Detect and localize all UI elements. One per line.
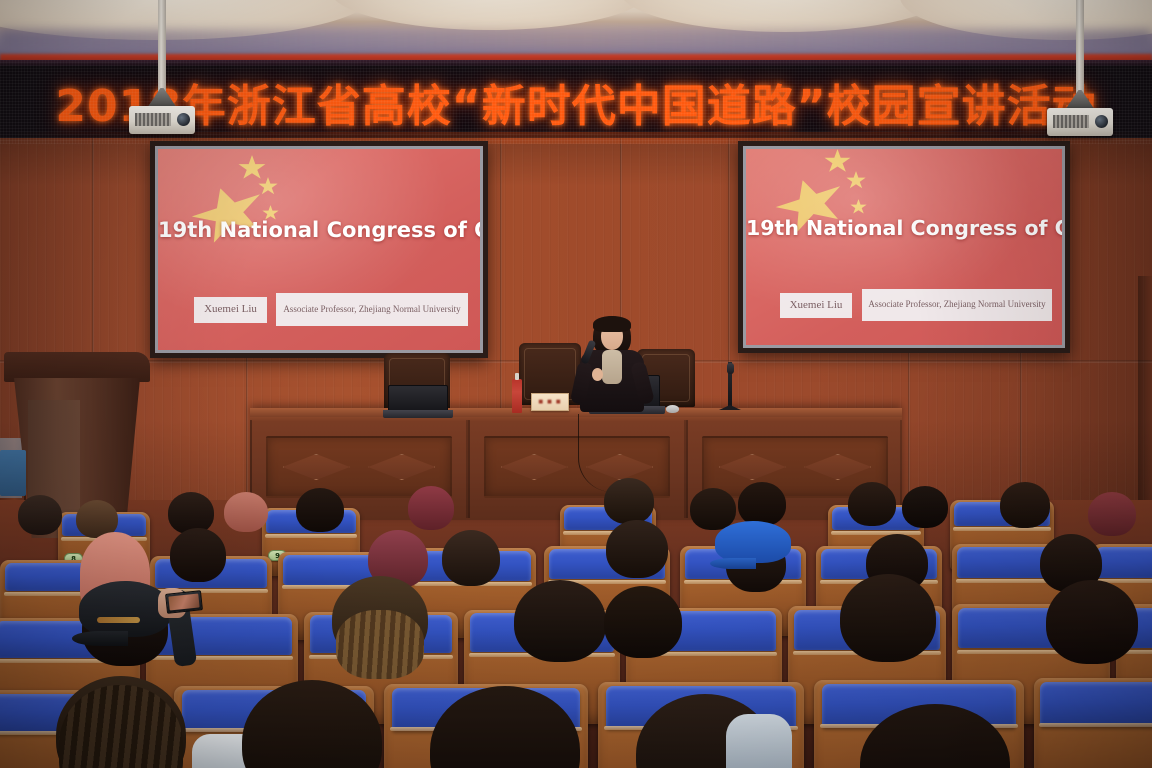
presenter-scarf <box>602 350 622 384</box>
flag-star <box>238 155 266 181</box>
audience-member <box>738 482 786 526</box>
projector-vent <box>1053 115 1089 128</box>
person-head <box>902 486 948 528</box>
person-head <box>690 488 736 530</box>
ceiling-projector-right <box>1044 0 1116 136</box>
desk-nameplate-text: ■■■ <box>534 396 566 408</box>
audience-member <box>56 676 186 768</box>
flag-star <box>846 171 866 190</box>
person-head <box>296 488 344 532</box>
audience-member <box>604 478 654 524</box>
audience-member-with-cap <box>718 528 788 584</box>
left-projection-screen: 19th National Congress of CPC Xuemei Liu… <box>150 141 488 358</box>
person-head <box>170 528 226 582</box>
braided-hair <box>336 610 424 679</box>
flag-star <box>824 149 851 174</box>
audience-member <box>332 576 428 662</box>
presenter-name-box: Xuemei Liu <box>194 297 267 323</box>
audience-member <box>18 495 62 535</box>
audience-member <box>224 492 268 532</box>
panel-diamond <box>719 454 786 480</box>
audience-member <box>840 574 936 662</box>
audience-member <box>408 486 454 530</box>
presenter-affiliation-box: Associate Professor, Zhejiang Normal Uni… <box>862 289 1052 321</box>
person-head <box>604 586 682 658</box>
audience-member <box>902 486 948 528</box>
person-clothing <box>726 714 792 768</box>
person-head <box>738 482 786 526</box>
audience-member <box>860 704 1010 768</box>
person-head <box>242 680 382 768</box>
panel-diamond-row <box>719 454 872 480</box>
audience-member <box>242 680 382 768</box>
ceiling-projector-left <box>126 0 198 134</box>
panel-diamond <box>368 454 435 480</box>
phone-screen <box>168 593 199 610</box>
person-head <box>1046 580 1138 664</box>
person-head <box>860 704 1010 768</box>
seat-cushion <box>1096 547 1152 578</box>
person-head <box>442 530 500 586</box>
projector-mount <box>1065 90 1095 110</box>
desk-microphone <box>718 366 742 410</box>
smartphone[interactable] <box>165 590 203 614</box>
head-table <box>250 408 902 520</box>
person-head <box>1088 492 1136 536</box>
audience-member <box>430 686 580 768</box>
audience-member <box>514 580 606 662</box>
seat-trim <box>265 534 357 538</box>
slide-content: 19th National Congress of CPC Xuemei Liu… <box>746 149 1062 345</box>
seat[interactable] <box>1034 678 1152 768</box>
person-head <box>848 482 896 526</box>
slide-content: 19th National Congress of CPC Xuemei Liu… <box>158 149 480 350</box>
seat-cushion <box>1040 682 1152 727</box>
ceiling-ellipse <box>620 0 950 32</box>
audience-member <box>604 586 682 658</box>
water-bottle <box>512 379 522 413</box>
person-head <box>18 495 62 535</box>
laptop-base <box>383 410 453 418</box>
projector-lens-icon <box>177 113 190 126</box>
cap-logo <box>97 617 140 623</box>
projector-vent <box>135 113 171 126</box>
presenter-hand <box>592 368 603 381</box>
person-head <box>1000 482 1050 528</box>
person-head <box>224 492 268 532</box>
audience-member <box>1088 492 1136 536</box>
audience-member <box>296 488 344 532</box>
lectern-top <box>4 352 150 382</box>
screen-bezel: 19th National Congress of CPC Xuemei Liu… <box>743 146 1065 348</box>
person-head <box>430 686 580 768</box>
laptop-screen <box>388 385 448 411</box>
person-head <box>514 580 606 662</box>
projector-lens-icon <box>1095 115 1108 128</box>
slide-title: 19th National Congress of CPC <box>158 218 480 242</box>
seat-trim <box>151 656 294 660</box>
person-head <box>840 574 936 662</box>
presenter-hair-fringe <box>593 316 631 332</box>
audience-member <box>1000 482 1050 528</box>
waste-bin <box>0 450 26 496</box>
person-head <box>604 478 654 524</box>
desk-nameplate: ■■■ <box>531 393 569 411</box>
audience-member <box>690 488 736 530</box>
audience-member <box>1046 580 1138 664</box>
audience-member <box>442 530 500 586</box>
panel-diamond <box>501 454 568 480</box>
projector-body <box>1047 108 1113 136</box>
audience-member-with-cap <box>82 590 168 666</box>
flag-star <box>258 177 278 196</box>
lecture-hall-photo: 2018年浙江省高校“新时代中国道路”校园宣讲活动 19th National … <box>0 0 1152 768</box>
person-head <box>606 520 668 578</box>
audience-member <box>848 482 896 526</box>
presenter-name-box: Xuemei Liu <box>780 293 852 318</box>
computer-mouse[interactable] <box>666 405 679 413</box>
panel-diamond <box>283 454 350 480</box>
panel-diamond-row <box>283 454 436 480</box>
panel-diamond-row <box>501 454 654 480</box>
right-projection-screen: 19th National Congress of CPC Xuemei Liu… <box>738 141 1070 353</box>
microphone-head-icon <box>727 363 734 374</box>
seat-trim <box>1039 723 1152 727</box>
microphone-base <box>719 405 741 410</box>
person-head <box>408 486 454 530</box>
panel-diamond <box>804 454 871 480</box>
projector-mount <box>147 88 177 108</box>
projector-body <box>129 106 195 134</box>
audience-member <box>606 520 668 578</box>
flag-star <box>850 199 867 215</box>
screen-bezel: 19th National Congress of CPC Xuemei Liu… <box>155 146 483 353</box>
audience-member <box>170 528 226 582</box>
slide-title: 19th National Congress of CPC <box>746 216 1062 240</box>
presenter-affiliation-box: Associate Professor, Zhejiang Normal Uni… <box>276 293 468 326</box>
baseball-cap <box>715 521 791 562</box>
presenter <box>570 316 654 414</box>
laptop-left[interactable] <box>388 384 448 418</box>
ceiling-ellipse <box>330 0 650 30</box>
cap-brim <box>72 631 129 646</box>
